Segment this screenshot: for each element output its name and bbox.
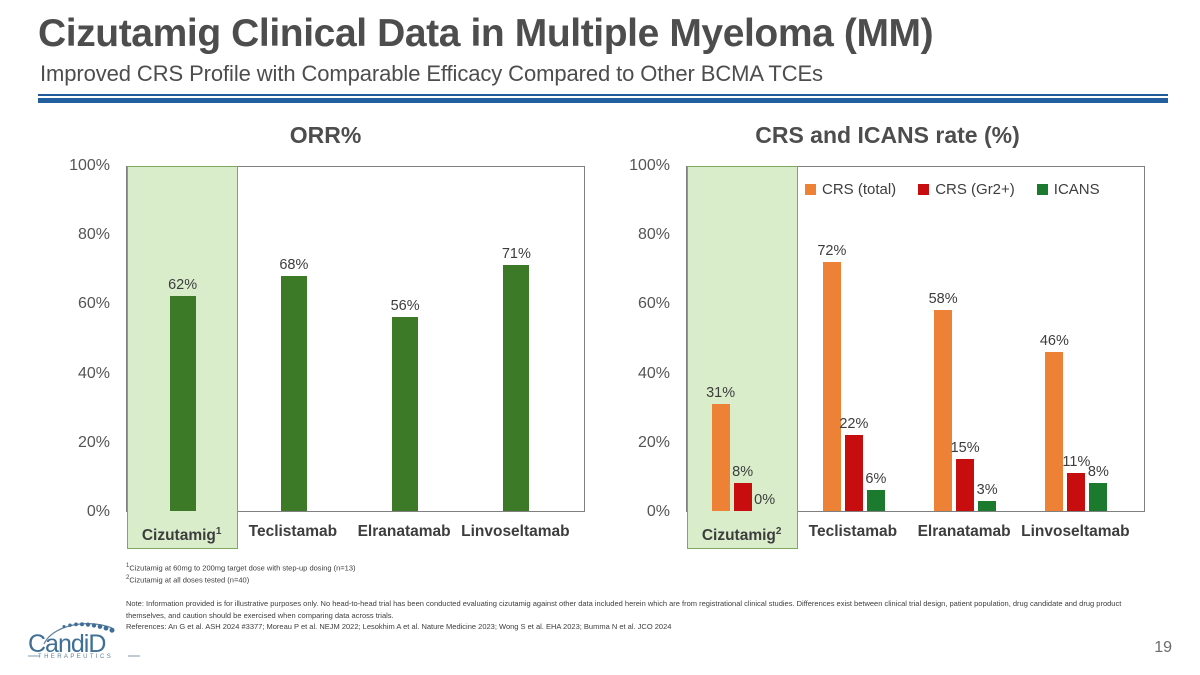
bar-value-label: 56%: [391, 298, 420, 314]
footnote-1-text: Cizutamig at 60mg to 200mg target dose w…: [129, 564, 355, 573]
bar-value-label: 68%: [279, 257, 308, 273]
category-label: Elranatamab: [349, 512, 460, 552]
category-label-text: Teclistamab: [249, 523, 337, 540]
bar-column[interactable]: 71%: [503, 167, 529, 511]
bar[interactable]: [845, 435, 863, 511]
bar-column[interactable]: 56%: [392, 167, 418, 511]
y-axis-tick: 60%: [638, 295, 670, 313]
bar-value-label: 72%: [817, 243, 846, 259]
bar-column[interactable]: 3%: [978, 167, 996, 511]
legend-swatch-icon: [1037, 184, 1048, 195]
page-subtitle: Improved CRS Profile with Comparable Eff…: [40, 61, 1168, 87]
category-label-text: Cizutamig: [702, 527, 776, 544]
chart-crs-icans-category-axis: Cizutamig2TeclistamabElranatamabLinvosel…: [686, 512, 1145, 552]
category-label-text: Cizutamig: [142, 527, 216, 544]
bar-column[interactable]: 62%: [170, 167, 196, 511]
chart-orr: ORR% 0%20%40%60%80%100% 62%68%56%71% Ciz…: [40, 120, 585, 566]
bar-value-label: 11%: [1062, 454, 1090, 470]
legend-item[interactable]: CRS (total): [805, 181, 896, 198]
bar-value-label: 3%: [977, 482, 998, 498]
bar[interactable]: [956, 459, 974, 511]
legend-label: CRS (Gr2+): [935, 181, 1015, 198]
logo-tagline: THERAPEUTICS: [38, 654, 113, 660]
bar-column[interactable]: 72%: [823, 167, 841, 511]
category-label: Teclistamab: [797, 512, 908, 552]
category-label: Cizutamig1: [126, 512, 237, 552]
bar-value-label: 22%: [839, 416, 868, 432]
divider-line-thick: [38, 98, 1168, 103]
y-axis-tick: 60%: [78, 295, 110, 313]
bar[interactable]: [281, 276, 307, 511]
bar[interactable]: [170, 296, 196, 511]
chart-crs-icans-body: 0%20%40%60%80%100% 31%8%0%72%22%6%58%15%…: [600, 166, 1145, 566]
legend-label: ICANS: [1054, 181, 1100, 198]
bar-value-label: 46%: [1040, 333, 1069, 349]
footnote-2: 2Cizutamig at all doses tested (n=40): [126, 574, 1126, 586]
legend-item[interactable]: ICANS: [1037, 181, 1100, 198]
bar[interactable]: [934, 310, 952, 511]
y-axis-tick: 0%: [87, 503, 110, 521]
bar-value-label: 71%: [502, 246, 531, 262]
page-title: Cizutamig Clinical Data in Multiple Myel…: [38, 14, 1168, 55]
category-label-text: Elranatamab: [358, 523, 451, 540]
y-axis-tick: 80%: [78, 226, 110, 244]
footnote-1: 1Cizutamig at 60mg to 200mg target dose …: [126, 562, 1126, 574]
bar[interactable]: [978, 501, 996, 511]
bar-value-label: 0%: [754, 492, 775, 508]
bar-group: 68%: [238, 167, 349, 511]
bar-value-label: 15%: [951, 440, 980, 456]
note-block: Note: Information provided is for illust…: [126, 598, 1126, 633]
bar[interactable]: [734, 483, 752, 511]
chart-crs-icans: CRS and ICANS rate (%) 0%20%40%60%80%100…: [600, 120, 1145, 566]
footnote-2-text: Cizutamig at all doses tested (n=40): [129, 576, 249, 585]
chart-crs-icans-title: CRS and ICANS rate (%): [600, 120, 1145, 150]
bar-value-label: 58%: [929, 291, 958, 307]
bar-group: 31%8%0%: [687, 167, 798, 511]
references-line: References: An G et al. ASH 2024 #3377; …: [126, 621, 1126, 633]
category-label: Cizutamig2: [686, 512, 797, 552]
bar[interactable]: [1045, 352, 1063, 511]
chart-orr-plot-area: 62%68%56%71%: [126, 166, 585, 512]
page-number: 19: [1154, 639, 1172, 657]
bar-value-label: 8%: [1088, 464, 1109, 480]
legend-label: CRS (total): [822, 181, 896, 198]
bar-column[interactable]: 11%: [1067, 167, 1085, 511]
chart-orr-body: 0%20%40%60%80%100% 62%68%56%71% Cizutami…: [40, 166, 585, 566]
category-label-text: Teclistamab: [809, 523, 897, 540]
legend-swatch-icon: [805, 184, 816, 195]
bar-column[interactable]: 31%: [712, 167, 730, 511]
candid-therapeutics-logo: CandiD THERAPEUTICS: [24, 618, 144, 668]
bar-value-label: 62%: [168, 277, 197, 293]
legend-swatch-icon: [918, 184, 929, 195]
chart-crs-icans-plot-area: 31%8%0%72%22%6%58%15%3%46%11%8% CRS (tot…: [686, 166, 1145, 512]
y-axis-tick: 20%: [638, 434, 670, 452]
bar-column[interactable]: 46%: [1045, 167, 1063, 511]
bar[interactable]: [823, 262, 841, 511]
bar-group: 71%: [461, 167, 572, 511]
bar-column[interactable]: 8%: [734, 167, 752, 511]
bar-column[interactable]: 68%: [281, 167, 307, 511]
bar-group: 58%15%3%: [910, 167, 1021, 511]
note-paragraph: Note: Information provided is for illust…: [126, 598, 1126, 621]
bar-value-label: 8%: [732, 464, 753, 480]
category-label-superscript: 1: [216, 526, 222, 537]
chart-legend: CRS (total)CRS (Gr2+)ICANS: [805, 181, 1100, 198]
bar-value-label: 31%: [706, 385, 735, 401]
category-label: Teclistamab: [237, 512, 348, 552]
legend-item[interactable]: CRS (Gr2+): [918, 181, 1015, 198]
bar-group: 62%: [127, 167, 238, 511]
category-label: Linvoseltamab: [1020, 512, 1131, 552]
y-axis-tick: 40%: [78, 365, 110, 383]
y-axis-tick: 100%: [629, 157, 670, 175]
bar-column[interactable]: 15%: [956, 167, 974, 511]
chart-orr-title: ORR%: [40, 120, 585, 150]
chart-crs-icans-y-axis: 0%20%40%60%80%100%: [600, 166, 678, 512]
chart-orr-y-axis: 0%20%40%60%80%100%: [40, 166, 118, 512]
category-label-text: Linvoseltamab: [1021, 523, 1130, 540]
chart-orr-category-axis: Cizutamig1TeclistamabElranatamabLinvosel…: [126, 512, 585, 552]
bar[interactable]: [392, 317, 418, 511]
bar[interactable]: [1067, 473, 1085, 511]
category-label: Elranatamab: [909, 512, 1020, 552]
slide-header: Cizutamig Clinical Data in Multiple Myel…: [38, 14, 1168, 87]
bar[interactable]: [1089, 483, 1107, 511]
y-axis-tick: 20%: [78, 434, 110, 452]
slide: Cizutamig Clinical Data in Multiple Myel…: [0, 0, 1200, 675]
header-divider: [38, 94, 1168, 103]
category-label: Linvoseltamab: [460, 512, 571, 552]
y-axis-tick: 100%: [69, 157, 110, 175]
bar-group: 56%: [350, 167, 461, 511]
bar-column[interactable]: 22%: [845, 167, 863, 511]
y-axis-tick: 40%: [638, 365, 670, 383]
bar-group: 46%11%8%: [1021, 167, 1132, 511]
bar-column[interactable]: 58%: [934, 167, 952, 511]
bar[interactable]: [503, 265, 529, 511]
bar[interactable]: [867, 490, 885, 511]
bar-column[interactable]: 8%: [1089, 167, 1107, 511]
bar-column[interactable]: 0%: [756, 167, 774, 511]
bar-group: 72%22%6%: [798, 167, 909, 511]
y-axis-tick: 0%: [647, 503, 670, 521]
footnotes: 1Cizutamig at 60mg to 200mg target dose …: [126, 562, 1126, 587]
category-label-text: Elranatamab: [918, 523, 1011, 540]
bar-value-label: 6%: [865, 471, 886, 487]
bar[interactable]: [712, 404, 730, 511]
category-label-text: Linvoseltamab: [461, 523, 570, 540]
bar-column[interactable]: 6%: [867, 167, 885, 511]
category-label-superscript: 2: [776, 526, 782, 537]
y-axis-tick: 80%: [638, 226, 670, 244]
